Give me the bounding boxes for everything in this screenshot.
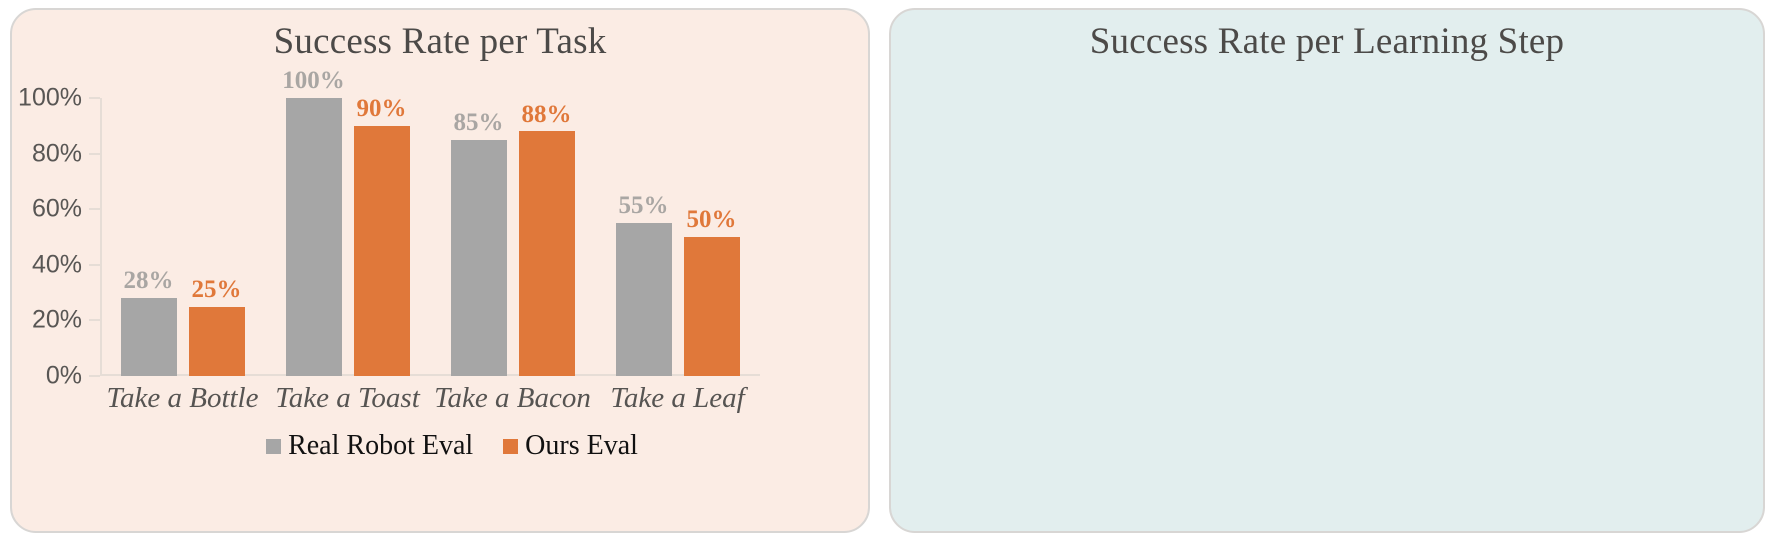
bar-ours-eval[interactable] xyxy=(189,307,245,377)
bar-ours-eval[interactable] xyxy=(354,126,410,376)
chart-panel-success-rate-per-task: Success Rate per Task 100% 80% 60% 40% 2… xyxy=(10,8,870,533)
bar-group: 55% 50% xyxy=(595,98,760,376)
bar-value-label: 55% xyxy=(619,192,669,220)
x-axis-categories-left: Take a Bottle Take a Toast Take a Bacon … xyxy=(100,382,760,415)
bar-value-label: 25% xyxy=(192,276,242,304)
legend-left: Real Robot Eval Ours Eval xyxy=(22,430,882,462)
x-axis-label: Take a Bottle xyxy=(100,382,265,415)
y-axis-label-left: 20% xyxy=(32,306,82,335)
bar-ours-eval[interactable] xyxy=(684,237,740,376)
y-axis-label-left: 0% xyxy=(46,362,82,391)
y-axis-label-left: 100% xyxy=(18,84,82,113)
y-tickmark-left xyxy=(89,153,100,155)
figure-root: Success Rate per Task 100% 80% 60% 40% 2… xyxy=(0,0,1774,550)
y-tickmark-left xyxy=(89,319,100,321)
bar-group: 85% 88% xyxy=(430,98,595,376)
bar-value-label: 85% xyxy=(454,109,504,137)
x-axis-label: Take a Leaf xyxy=(595,382,760,415)
bar-value-label: 90% xyxy=(357,95,407,123)
bar-column-gray[interactable]: 28% xyxy=(121,98,177,376)
bar-value-label: 50% xyxy=(687,206,737,234)
bar-group: 28% 25% xyxy=(100,98,265,376)
legend-swatch-icon xyxy=(503,439,518,454)
y-axis-label-left: 80% xyxy=(32,139,82,168)
bar-real-robot-eval[interactable] xyxy=(451,140,507,376)
bar-groups-left: 28% 25% 100% xyxy=(100,98,760,376)
x-axis-label: Take a Toast xyxy=(265,382,430,415)
bar-column-orange[interactable]: 88% xyxy=(519,98,575,376)
y-tickmark-left xyxy=(89,375,100,377)
bar-column-gray[interactable]: 100% xyxy=(286,98,342,376)
bar-real-robot-eval[interactable] xyxy=(616,223,672,376)
x-axis-label: Take a Bacon xyxy=(430,382,595,415)
y-axis-label-left: 40% xyxy=(32,250,82,279)
legend-label: Real Robot Eval xyxy=(288,430,473,462)
plot-area-left: 100% 80% 60% 40% 20% 0% 28% 25% xyxy=(100,98,760,376)
y-axis-label-left: 60% xyxy=(32,195,82,224)
bar-group: 100% 90% xyxy=(265,98,430,376)
page-title-left: Success Rate per Task xyxy=(12,20,868,63)
bar-column-orange[interactable]: 90% xyxy=(354,98,410,376)
y-tickmark-left xyxy=(89,97,100,99)
bar-column-gray[interactable]: 55% xyxy=(616,98,672,376)
page-title-right: Success Rate per Learning Step xyxy=(891,20,1763,63)
y-tickmark-left xyxy=(89,208,100,210)
bar-value-label: 28% xyxy=(124,267,174,295)
bar-column-gray[interactable]: 85% xyxy=(451,98,507,376)
chart-panel-success-rate-per-learning-step: Success Rate per Learning Step 100% 80% … xyxy=(889,8,1765,533)
bar-column-orange[interactable]: 25% xyxy=(189,98,245,376)
bar-column-orange[interactable]: 50% xyxy=(684,98,740,376)
y-tickmark-left xyxy=(89,264,100,266)
bar-ours-eval[interactable] xyxy=(519,131,575,376)
bar-value-label: 88% xyxy=(522,101,572,129)
legend-item-ours-eval[interactable]: Ours Eval xyxy=(503,430,638,462)
legend-swatch-icon xyxy=(266,439,281,454)
legend-label: Ours Eval xyxy=(525,430,638,462)
legend-item-real-robot-eval[interactable]: Real Robot Eval xyxy=(266,430,473,462)
bar-real-robot-eval[interactable] xyxy=(286,98,342,376)
bar-real-robot-eval[interactable] xyxy=(121,298,177,376)
bar-value-label: 100% xyxy=(282,67,345,95)
